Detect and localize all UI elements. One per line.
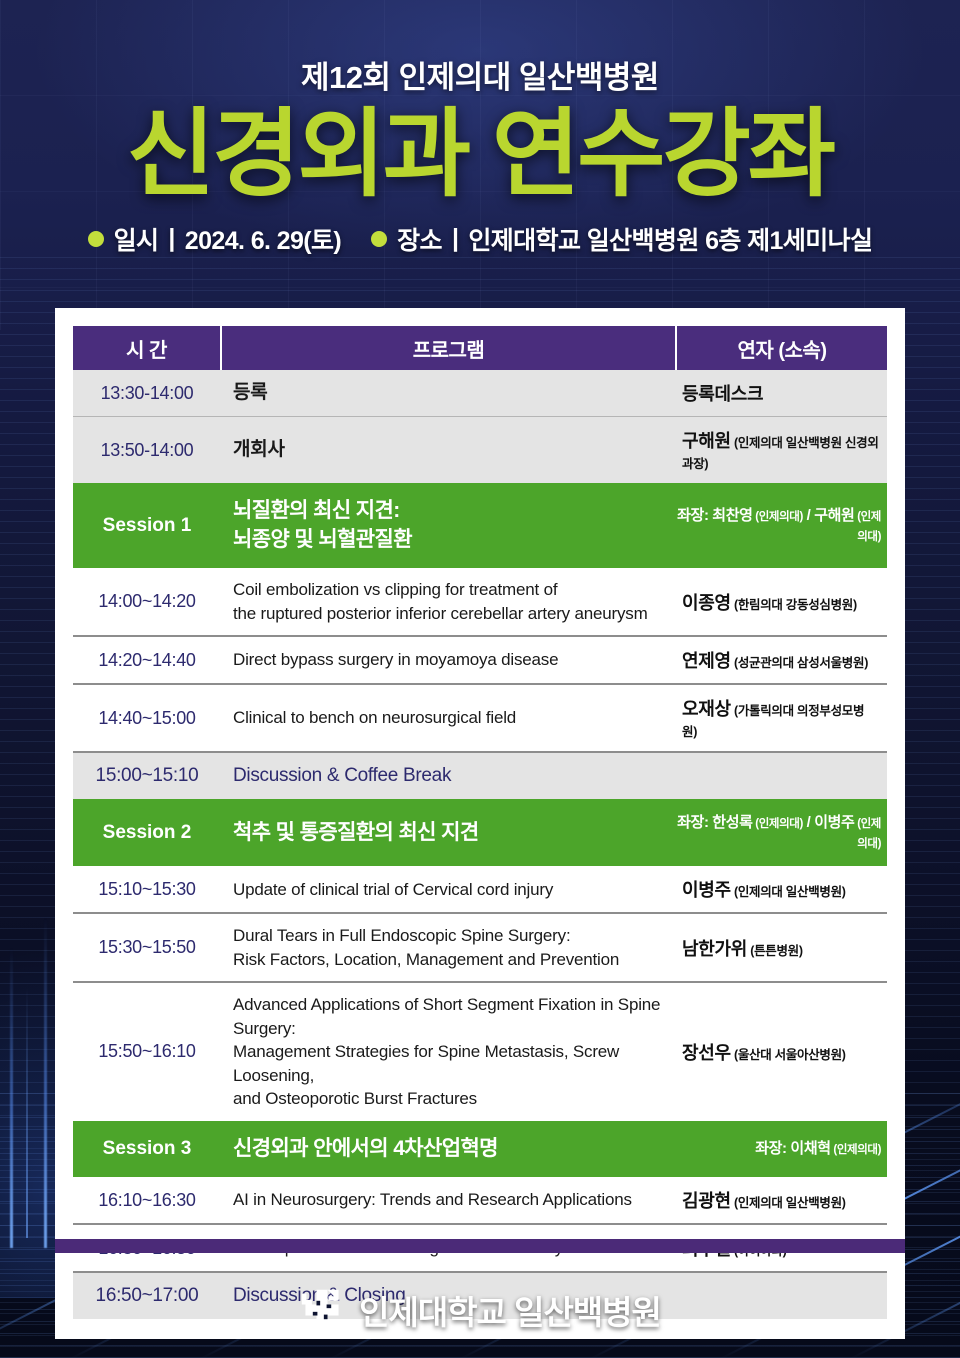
table-row: 13:30-14:00등록등록데스크 (73, 370, 887, 417)
session-header-row: Session 3신경외과 안에서의 4차산업혁명좌장: 이채혁 (인제의대) (73, 1121, 887, 1178)
page-title: 신경외과 연수강좌 (0, 101, 960, 209)
column-header-program: 프로그램 (221, 326, 676, 370)
row-speaker: 연제영 (성균관의대 삼성서울병원) (676, 636, 887, 684)
row-speaker: 등록데스크 (676, 370, 887, 417)
event-kicker: 제12회 인제의대 일산백병원 (0, 52, 960, 97)
meta-separator: | (452, 224, 458, 253)
table-row: 14:40~15:00Clinical to bench on neurosur… (73, 684, 887, 752)
row-time: 15:10~15:30 (73, 866, 221, 913)
program-table: 시 간 프로그램 연자 (소속) 13:30-14:00등록등록데스크13:50… (73, 326, 887, 1319)
table-row: 15:50~16:10Advanced Applications of Shor… (73, 982, 887, 1120)
row-program: Advanced Applications of Short Segment F… (221, 982, 676, 1120)
row-time: 15:00~15:10 (73, 752, 221, 799)
session-chair: 좌장: 이채혁 (인제의대) (676, 1121, 887, 1178)
row-speaker: 남한가위 (튼튼병원) (676, 913, 887, 982)
session-title: 척추 및 통증질환의 최신 지견 (221, 799, 676, 866)
row-speaker: 장선우 (울산대 서울아산병원) (676, 982, 887, 1120)
row-time: 14:40~15:00 (73, 684, 221, 752)
table-row: 14:00~14:20Coil embolization vs clipping… (73, 568, 887, 636)
event-venue-label: 장소 (397, 221, 442, 257)
meta-separator: | (168, 224, 174, 253)
organization-name: 인제대학교 일산백병원 (359, 1286, 661, 1334)
program-card: 시 간 프로그램 연자 (소속) 13:30-14:00등록등록데스크13:50… (55, 308, 905, 1339)
row-program: Clinical to bench on neurosurgical field (221, 684, 676, 752)
session-label: Session 3 (73, 1121, 221, 1178)
row-program: Direct bypass surgery in moyamoya diseas… (221, 636, 676, 684)
table-header-row: 시 간 프로그램 연자 (소속) (73, 326, 887, 370)
row-speaker: 이종영 (한림의대 강동성심병원) (676, 568, 887, 636)
row-time: 15:50~16:10 (73, 982, 221, 1120)
row-program: Coil embolization vs clipping for treatm… (221, 568, 676, 636)
session-chair: 좌장: 최찬영 (인제의대) / 구해원 (인제의대) (676, 483, 887, 568)
row-time: 16:10~16:30 (73, 1177, 221, 1224)
row-program: Update of clinical trial of Cervical cor… (221, 866, 676, 913)
poster-footer: 인제대학교 일산백병원 (0, 1286, 960, 1334)
bullet-dot-icon (88, 231, 104, 247)
bullet-dot-icon (371, 231, 387, 247)
row-program: 등록 (221, 370, 676, 417)
row-time: 14:00~14:20 (73, 568, 221, 636)
column-header-time: 시 간 (73, 326, 221, 370)
discussion-row: 15:00~15:10Discussion & Coffee Break (73, 752, 887, 799)
session-label: Session 2 (73, 799, 221, 866)
table-row: 13:50-14:00개회사구해원 (인제의대 일산백병원 신경외과장) (73, 417, 887, 484)
row-program: AI in Neurosurgery: Trends and Research … (221, 1177, 676, 1224)
row-time: 13:50-14:00 (73, 417, 221, 484)
event-venue-value: 인제대학교 일산백병원 6층 제1세미나실 (468, 221, 872, 257)
inje-paik-cross-logo-icon (299, 1287, 345, 1333)
row-speaker: 구해원 (인제의대 일산백병원 신경외과장) (676, 417, 887, 484)
session-header-row: Session 1뇌질환의 최신 지견:뇌종양 및 뇌혈관질환좌장: 최찬영 (… (73, 483, 887, 568)
session-header-row: Session 2척추 및 통증질환의 최신 지견좌장: 한성록 (인제의대) … (73, 799, 887, 866)
row-time: 15:30~15:50 (73, 913, 221, 982)
row-speaker: 오재상 (가톨릭의대 의정부성모병원) (676, 684, 887, 752)
table-row: 15:10~15:30Update of clinical trial of C… (73, 866, 887, 913)
poster-header: 제12회 인제의대 일산백병원 신경외과 연수강좌 일시 | 2024. 6. … (0, 0, 960, 257)
event-date: 일시 | 2024. 6. 29(토) (88, 221, 342, 257)
row-program: Dural Tears in Full Endoscopic Spine Sur… (221, 913, 676, 982)
row-speaker (676, 752, 887, 799)
row-time: 13:30-14:00 (73, 370, 221, 417)
session-chair: 좌장: 한성록 (인제의대) / 이병주 (인제의대) (676, 799, 887, 866)
event-venue: 장소 | 인제대학교 일산백병원 6층 제1세미나실 (371, 221, 872, 257)
table-row: 15:30~15:50Dural Tears in Full Endoscopi… (73, 913, 887, 982)
row-time: 14:20~14:40 (73, 636, 221, 684)
event-meta: 일시 | 2024. 6. 29(토) 장소 | 인제대학교 일산백병원 6층 … (0, 221, 960, 257)
table-row: 16:10~16:30AI in Neurosurgery: Trends an… (73, 1177, 887, 1224)
row-program: Discussion & Coffee Break (221, 752, 676, 799)
event-date-label: 일시 (114, 221, 159, 257)
table-row: 14:20~14:40Direct bypass surgery in moya… (73, 636, 887, 684)
session-title: 신경외과 안에서의 4차산업혁명 (221, 1121, 676, 1178)
column-header-speaker: 연자 (소속) (676, 326, 887, 370)
table-head: 시 간 프로그램 연자 (소속) (73, 326, 887, 370)
row-speaker: 이병주 (인제의대 일산백병원) (676, 866, 887, 913)
session-title: 뇌질환의 최신 지견:뇌종양 및 뇌혈관질환 (221, 483, 676, 568)
card-bottom-bar (55, 1239, 905, 1253)
session-label: Session 1 (73, 483, 221, 568)
row-program: 개회사 (221, 417, 676, 484)
table-body: 13:30-14:00등록등록데스크13:50-14:00개회사구해원 (인제의… (73, 370, 887, 1319)
event-date-value: 2024. 6. 29(토) (185, 221, 341, 257)
row-speaker: 김광현 (인제의대 일산백병원) (676, 1177, 887, 1224)
